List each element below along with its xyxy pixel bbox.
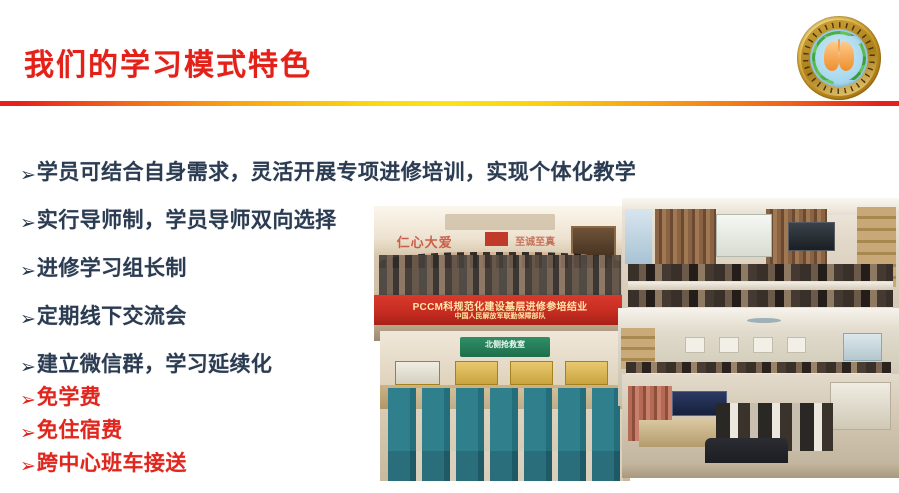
arrow-bullet-icon: ➢ — [20, 166, 36, 185]
lung-right-icon — [839, 42, 854, 71]
list-item: ➢ 定期线下交流会 — [20, 306, 790, 328]
title-divider — [0, 101, 899, 106]
list-item: ➢ 进修学习组长制 — [20, 258, 790, 280]
wall-logo-icon — [485, 232, 508, 247]
list-item: ➢ 实行导师制，学员导师双向选择 — [20, 210, 790, 232]
wall-frame — [719, 337, 739, 353]
wall-text-left: 仁心大爱 — [397, 232, 453, 251]
arrow-bullet-icon: ➢ — [20, 457, 36, 476]
institution-emblem-logo — [797, 16, 881, 100]
wall-frame — [787, 337, 807, 353]
list-item: ➢ 学员可结合自身需求，灵活开展专项进修培训，实现个体化教学 — [20, 162, 790, 184]
slide-canvas: 我们的学习模式特色 仁心大爱 至诚至真 PCCM科规范化建设基层进修参培结业 — [0, 0, 899, 493]
lung-left-icon — [824, 42, 839, 71]
list-item-label: 跨中心班车接送 — [37, 453, 187, 475]
list-item-label: 定期线下交流会 — [37, 306, 187, 328]
arrow-bullet-icon: ➢ — [20, 424, 36, 443]
list-item-label: 免学费 — [37, 387, 101, 409]
wall-frame — [685, 337, 705, 353]
wall-frame — [753, 337, 773, 353]
wall-monitor — [788, 222, 835, 251]
cabinet-shape — [830, 382, 891, 430]
list-item-label: 进修学习组长制 — [37, 258, 187, 280]
list-item: ➢ 跨中心班车接送 — [20, 453, 790, 475]
list-item: ➢ 免住宿费 — [20, 420, 790, 442]
arrow-bullet-icon: ➢ — [20, 358, 36, 377]
page-title: 我们的学习模式特色 — [24, 40, 312, 84]
arrow-bullet-icon: ➢ — [20, 262, 36, 281]
department-sign-text: 北侧抢救室 — [460, 339, 550, 350]
list-item-label: 学员可结合自身需求，灵活开展专项进修培训，实现个体化教学 — [37, 162, 636, 184]
list-item-label: 实行导师制，学员导师双向选择 — [37, 210, 337, 232]
wall-text-right: 至诚至真 — [515, 233, 555, 248]
list-item: ➢ 建立微信群，学习延续化 — [20, 354, 790, 376]
emblem-face — [810, 29, 868, 87]
arrow-bullet-icon: ➢ — [20, 310, 36, 329]
photo-collage: 仁心大爱 至诚至真 PCCM科规范化建设基层进修参培结业 中国人民解放军联勤保障… — [360, 196, 899, 486]
list-item-label: 免住宿费 — [37, 420, 123, 442]
door-shape — [843, 333, 882, 360]
list-item: ➢ 免学费 — [20, 387, 790, 409]
list-item-label: 建立微信群，学习延续化 — [37, 354, 272, 376]
arrow-bullet-icon: ➢ — [20, 391, 36, 410]
arrow-bullet-icon: ➢ — [20, 214, 36, 233]
